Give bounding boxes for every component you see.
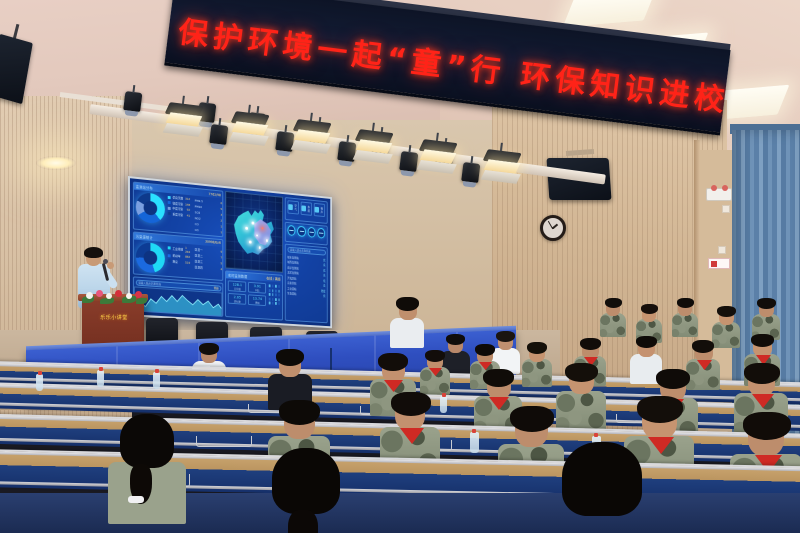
wall-plate: [718, 246, 726, 254]
stage-floodlight: [354, 129, 394, 164]
student: [752, 300, 780, 338]
kpi-card: 128.1 日均值: [228, 280, 246, 292]
water-bottle: [153, 372, 160, 389]
water-bottle: [470, 432, 479, 453]
map-marker[interactable]: [252, 222, 254, 225]
student: [268, 352, 312, 406]
water-bottle: [97, 370, 104, 387]
stage-floodlight: [164, 102, 204, 137]
wall-clock-icon: [540, 215, 566, 241]
student: [390, 300, 424, 344]
kpi-card: 2.05 超标数: [228, 293, 246, 305]
stage-spotlight: [123, 91, 143, 117]
presenter-hair: [84, 247, 103, 258]
student-foreground: [108, 420, 186, 516]
flower-arrangement: [78, 288, 150, 306]
noise-icon: [315, 207, 319, 213]
map-marker[interactable]: [259, 246, 261, 249]
donut-legend: 优良天数312 轻度污染148 中度污染92 重度污染41: [168, 195, 190, 233]
wall-plate: [722, 205, 730, 213]
exit-sign-icon: [708, 258, 730, 269]
wall-downlight: [36, 156, 76, 170]
station-list: 城东监测站优 城西监测站良 南岸监测站优 北区监测站良 开发区站优 高新区站良 …: [286, 254, 327, 300]
stage-spotlight: [275, 131, 295, 157]
gauge-voc: [317, 227, 325, 238]
dashboard-card-pollution[interactable]: 污染源统计 30998/bz6 工业排放1 264 机动车882 扬尘519 区…: [133, 231, 224, 281]
gauge-tsp: [307, 226, 315, 237]
stage-floodlight: [482, 149, 522, 184]
stage-spotlight: [209, 124, 229, 150]
gauge-pm: [298, 225, 306, 236]
stage-floodlight: [292, 119, 332, 154]
category-card[interactable]: 噪声: [314, 203, 325, 217]
category-card[interactable]: 水质: [301, 202, 312, 216]
map-marker[interactable]: [249, 241, 251, 244]
presenter-hand: [107, 262, 114, 269]
student: [712, 308, 740, 346]
student-foreground: [548, 448, 658, 533]
student-foreground: [258, 456, 354, 533]
card-value: 7762/98: [209, 192, 221, 197]
search-placeholder: 请输入站点名称查询: [138, 280, 161, 286]
gauge-aqi: [288, 225, 296, 236]
stage-floodlight: [418, 139, 458, 174]
desk-basket: [196, 436, 252, 447]
dashboard-card-station-list[interactable]: 请输入站点名称查询 城东监测站优 城西监测站良 南岸监测站优 北区监测站良 开发…: [285, 244, 328, 323]
map-marker[interactable]: [246, 227, 248, 230]
category-card[interactable]: 空气: [288, 200, 299, 214]
air-icon: [289, 204, 293, 210]
emergency-light-icon: [706, 188, 732, 201]
podium-nameplate: 乐乐小讲堂: [92, 312, 136, 322]
region-map[interactable]: [225, 191, 283, 273]
stage-spotlight: [337, 141, 357, 167]
dashboard: 监测站分布 7762/98 优良天数312 轻度污染148 中度污染92 重度污…: [130, 178, 330, 326]
bar-list: PM2.568 PM1054 SO232 NO227 CO19 O312: [193, 197, 224, 235]
dashboard-card-gauges[interactable]: [285, 221, 328, 245]
auditorium-scene: 保护环境一起“童”行 环保知识进校园活动: [0, 0, 800, 533]
map-marker[interactable]: [266, 239, 268, 242]
podium-nameplate-text: 乐乐小讲堂: [100, 314, 128, 321]
data-grid: [268, 283, 280, 307]
card-value: 30998/bz6: [205, 240, 221, 245]
map-marker[interactable]: [256, 234, 258, 237]
water-bottle: [440, 396, 447, 413]
card-badge: 在线 / 离线: [266, 276, 280, 282]
search-button[interactable]: 查询: [214, 286, 219, 290]
dashboard-card-monitoring[interactable]: 监测站分布 7762/98 优良天数312 轻度污染148 中度污染92 重度污…: [133, 182, 224, 238]
bar-list: 区县一91 区县二76 区县三58 区县四43: [193, 246, 224, 278]
student: [420, 352, 450, 392]
water-icon: [302, 205, 306, 211]
donut-chart: [136, 241, 165, 273]
dashboard-card-kpis[interactable]: 实时监测数据 在线 / 离线 128.1 日均值 2.05 超标数: [225, 271, 283, 321]
dashboard-card-categories[interactable]: 空气 水质 噪声: [285, 197, 328, 224]
stage-floodlight: [230, 111, 270, 146]
stage-spotlight: [399, 151, 419, 177]
student: [522, 344, 552, 384]
donut-legend: 工业排放1 264 机动车882 扬尘519: [168, 244, 190, 275]
water-bottle: [36, 374, 43, 391]
student: [600, 300, 626, 336]
student: [672, 300, 698, 336]
kpi-card: 13.74 降幅: [248, 294, 266, 306]
donut-chart: [136, 192, 165, 225]
led-display-screen[interactable]: 监测站分布 7762/98 优良天数312 轻度污染148 中度污染92 重度污…: [128, 176, 332, 328]
kpi-card: 3.91 同比: [248, 282, 266, 294]
stage-spotlight: [461, 162, 481, 188]
